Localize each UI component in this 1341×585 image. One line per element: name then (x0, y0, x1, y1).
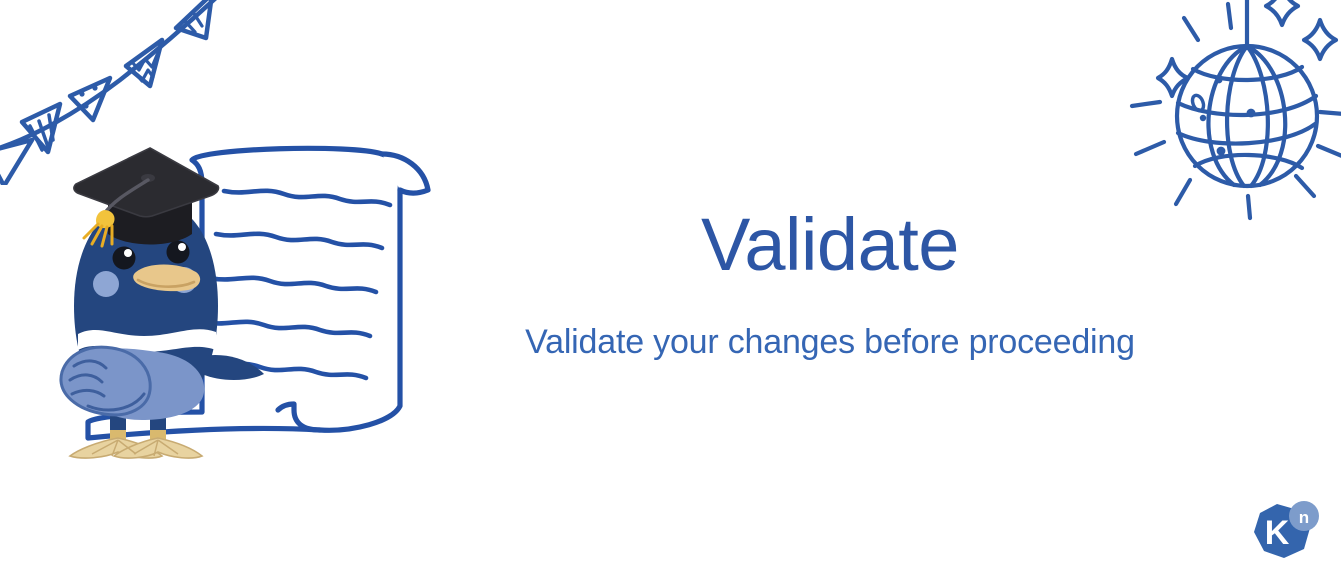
kn-brand-logo[interactable]: K n (1246, 496, 1324, 568)
graduate-bird-with-scroll-illustration (52, 138, 464, 468)
hero-text-block: Validate Validate your changes before pr… (464, 206, 1196, 362)
party-bunting-flags-icon (0, 0, 230, 185)
page-subtitle: Validate your changes before proceeding (464, 284, 1196, 363)
certificate-scroll-group (88, 148, 428, 438)
logo-primary-letter: K (1265, 514, 1290, 552)
graduation-cap (74, 148, 219, 246)
mascot-bird-group (61, 148, 264, 458)
page-title: Validate (464, 206, 1196, 284)
disco-ball-icon (1118, 0, 1341, 231)
page-root: Validate Validate your changes before pr… (0, 0, 1341, 585)
logo-secondary-letter: n (1299, 508, 1309, 527)
